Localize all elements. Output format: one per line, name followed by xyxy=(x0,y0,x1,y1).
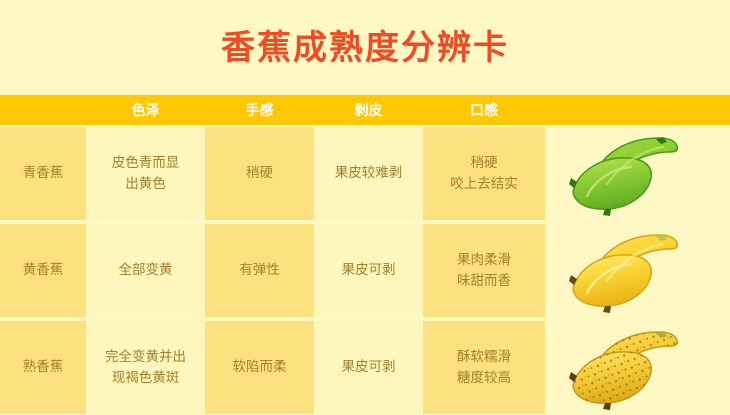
taste-text: 稍硬 咬上去结实 xyxy=(450,153,518,195)
feel-text: 有弹性 xyxy=(239,260,280,281)
column-header-peeling: 剥皮 xyxy=(314,95,423,125)
banana-ripeness-card: 香蕉成熟度分辨卡 色泽 手感 剥皮 口感 青香蕉 皮色青而显 出黄色 稍硬 果皮… xyxy=(0,0,730,415)
cell-color: 皮色青而显 出黄色 xyxy=(86,127,205,220)
yellow-banana-illustration xyxy=(545,224,730,317)
cell-feel: 有弹性 xyxy=(205,224,314,317)
cell-taste: 果肉柔滑 味甜而香 xyxy=(423,224,545,317)
column-header-color: 色泽 xyxy=(86,95,205,125)
yellow-banana-icon xyxy=(563,227,713,315)
page-title: 香蕉成熟度分辨卡 xyxy=(221,31,509,65)
cell-image xyxy=(545,224,730,317)
peeling-text: 果皮较难剥 xyxy=(335,163,403,184)
cell-feel: 稍硬 xyxy=(205,127,314,220)
cell-stage: 黄香蕉 xyxy=(0,224,86,317)
peeling-text: 果皮可剥 xyxy=(342,260,396,281)
column-header-feel: 手感 xyxy=(205,95,314,125)
table-row: 熟香蕉 完全变黄并出 现褐色黄斑 软陷而柔 果皮可剥 酥软糯滑 糖度较高 xyxy=(0,321,730,414)
cell-image xyxy=(545,321,730,414)
stage-label: 青香蕉 xyxy=(23,163,64,184)
green-banana-icon xyxy=(563,130,713,218)
cell-feel: 软陷而柔 xyxy=(205,321,314,414)
cell-peeling: 果皮可剥 xyxy=(314,321,423,414)
table-header-row: 色泽 手感 剥皮 口感 xyxy=(0,95,730,125)
cell-stage: 青香蕉 xyxy=(0,127,86,220)
title-area: 香蕉成熟度分辨卡 xyxy=(0,0,730,95)
spotted-ripe-banana-illustration xyxy=(545,321,730,414)
green-banana-illustration xyxy=(545,127,730,220)
feel-text: 稍硬 xyxy=(246,163,273,184)
spotted-banana-icon xyxy=(563,324,713,412)
cell-taste: 酥软糯滑 糖度较高 xyxy=(423,321,545,414)
taste-text: 酥软糯滑 糖度较高 xyxy=(457,347,511,389)
peeling-text: 果皮可剥 xyxy=(342,357,396,378)
table-body: 青香蕉 皮色青而显 出黄色 稍硬 果皮较难剥 稍硬 咬上去结实 xyxy=(0,127,730,415)
cell-image xyxy=(545,127,730,220)
table-row: 青香蕉 皮色青而显 出黄色 稍硬 果皮较难剥 稍硬 咬上去结实 xyxy=(0,127,730,220)
cell-stage: 熟香蕉 xyxy=(0,321,86,414)
table-row: 黄香蕉 全部变黄 有弹性 果皮可剥 果肉柔滑 味甜而香 xyxy=(0,224,730,317)
stage-label: 黄香蕉 xyxy=(23,260,64,281)
cell-peeling: 果皮较难剥 xyxy=(314,127,423,220)
taste-text: 果肉柔滑 味甜而香 xyxy=(457,250,511,292)
column-header-taste: 口感 xyxy=(423,95,545,125)
color-text: 完全变黄并出 现褐色黄斑 xyxy=(105,347,186,389)
cell-color: 全部变黄 xyxy=(86,224,205,317)
cell-color: 完全变黄并出 现褐色黄斑 xyxy=(86,321,205,414)
color-text: 皮色青而显 出黄色 xyxy=(112,153,180,195)
cell-taste: 稍硬 咬上去结实 xyxy=(423,127,545,220)
stage-label: 熟香蕉 xyxy=(23,357,64,378)
color-text: 全部变黄 xyxy=(119,260,173,281)
feel-text: 软陷而柔 xyxy=(233,357,287,378)
cell-peeling: 果皮可剥 xyxy=(314,224,423,317)
